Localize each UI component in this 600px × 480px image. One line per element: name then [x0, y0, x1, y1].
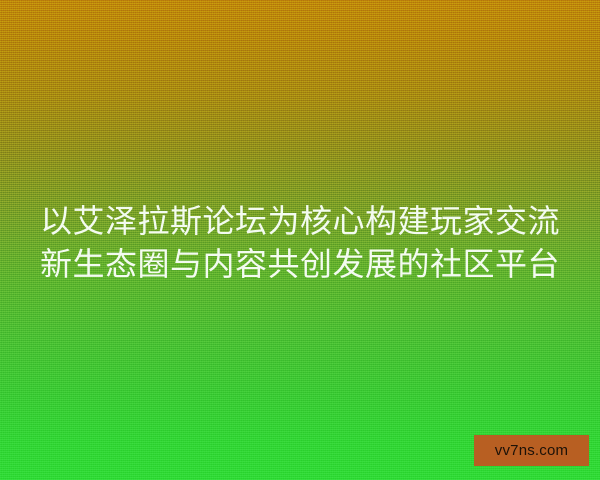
poster-canvas: 以艾泽拉斯论坛为核心构建玩家交流新生态圈与内容共创发展的社区平台 vv7ns.c… — [0, 0, 600, 480]
watermark-label: vv7ns.com — [495, 443, 569, 458]
page-title: 以艾泽拉斯论坛为核心构建玩家交流新生态圈与内容共创发展的社区平台 — [0, 200, 600, 286]
watermark-badge: vv7ns.com — [474, 435, 589, 466]
